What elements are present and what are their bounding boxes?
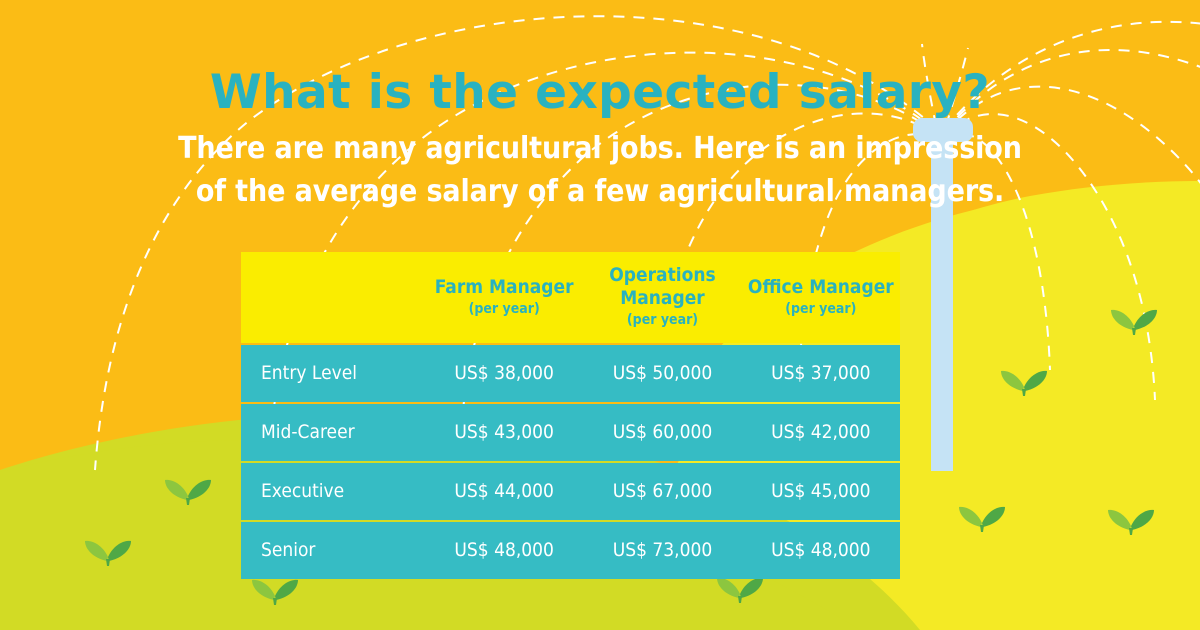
cell-operations-manager: US$ 73,000 <box>583 522 741 579</box>
cell-farm-manager: US$ 48,000 <box>425 522 583 579</box>
table-body: Entry Level US$ 38,000 US$ 50,000 US$ 37… <box>241 345 900 579</box>
cell-office-manager: US$ 37,000 <box>742 345 900 402</box>
table-row: Executive US$ 44,000 US$ 67,000 US$ 45,0… <box>241 463 900 520</box>
table-row: Mid-Career US$ 43,000 US$ 60,000 US$ 42,… <box>241 404 900 461</box>
column-header-line-1: Farm <box>435 276 483 298</box>
page-title: What is the expected salary? <box>0 66 1200 121</box>
cell-farm-manager: US$ 43,000 <box>425 404 583 461</box>
header-block: What is the expected salary? There are m… <box>0 66 1200 214</box>
infographic-canvas: What is the expected salary? There are m… <box>0 0 1200 630</box>
table-header-row: Farm Manager (per year) Operations Manag… <box>241 252 900 343</box>
cell-operations-manager: US$ 50,000 <box>583 345 741 402</box>
column-header-farm-manager: Farm Manager (per year) <box>425 252 583 343</box>
cell-farm-manager: US$ 44,000 <box>425 463 583 520</box>
column-header-unit: (per year) <box>429 300 579 318</box>
column-header-line-2: Manager <box>620 287 705 309</box>
column-header-line-2: Manager <box>489 276 574 298</box>
subtitle-line-1: There are many agricultural jobs. Here i… <box>0 127 1200 171</box>
row-label-mid-career: Mid-Career <box>241 404 425 461</box>
subtitle-line-2: of the average salary of a few agricultu… <box>0 170 1200 214</box>
row-label-senior: Senior <box>241 522 425 579</box>
table-row: Entry Level US$ 38,000 US$ 50,000 US$ 37… <box>241 345 900 402</box>
cell-operations-manager: US$ 60,000 <box>583 404 741 461</box>
column-header-line-1: Office <box>748 276 803 298</box>
column-header-line-2: Manager <box>809 276 894 298</box>
column-header-unit: (per year) <box>587 311 737 329</box>
cell-office-manager: US$ 45,000 <box>742 463 900 520</box>
cell-office-manager: US$ 48,000 <box>742 522 900 579</box>
cell-operations-manager: US$ 67,000 <box>583 463 741 520</box>
column-header-unit: (per year) <box>746 300 896 318</box>
table-head: Farm Manager (per year) Operations Manag… <box>241 252 900 343</box>
cell-farm-manager: US$ 38,000 <box>425 345 583 402</box>
row-label-entry-level: Entry Level <box>241 345 425 402</box>
row-label-executive: Executive <box>241 463 425 520</box>
salary-table-wrapper: Farm Manager (per year) Operations Manag… <box>241 250 900 581</box>
page-subtitle: There are many agricultural jobs. Here i… <box>0 127 1200 214</box>
column-header-line-1: Operations <box>609 264 715 286</box>
table-row: Senior US$ 48,000 US$ 73,000 US$ 48,000 <box>241 522 900 579</box>
table-corner-cell <box>241 252 425 343</box>
salary-table: Farm Manager (per year) Operations Manag… <box>241 250 900 581</box>
column-header-office-manager: Office Manager (per year) <box>742 252 900 343</box>
column-header-operations-manager: Operations Manager (per year) <box>583 252 741 343</box>
cell-office-manager: US$ 42,000 <box>742 404 900 461</box>
